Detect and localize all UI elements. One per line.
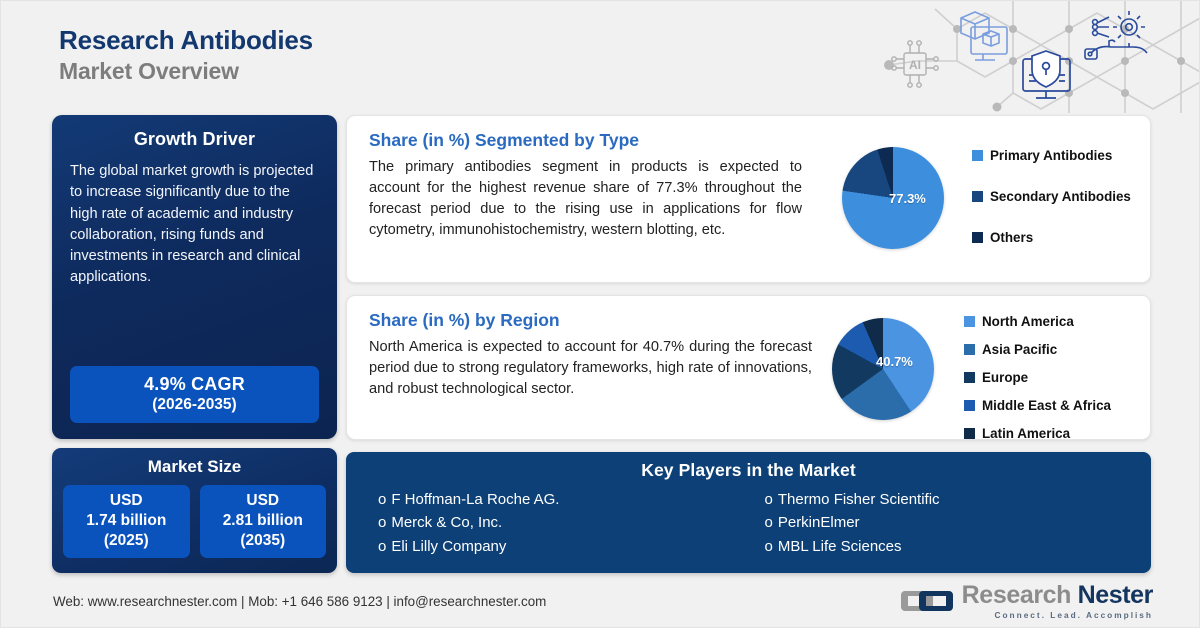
logo-text: Research Nester	[962, 583, 1153, 608]
type-pie-label: 77.3%	[889, 191, 926, 206]
svg-text:AI: AI	[909, 58, 921, 72]
market-size-values: USD 1.74 billion (2025) USD 2.81 billion…	[63, 485, 326, 558]
share-by-region-card: Share (in %) by Region North America is …	[346, 295, 1151, 440]
key-players-title: Key Players in the Market	[346, 460, 1151, 481]
player-name: PerkinElmer	[778, 514, 860, 531]
region-pie-chart: 40.7%	[832, 318, 934, 420]
legend-label: Middle East & Africa	[982, 398, 1111, 413]
cagr-period: (2026-2035)	[74, 396, 315, 414]
key-players-columns: oF Hoffman-La Roche AG. oMerck & Co, Inc…	[346, 488, 1151, 558]
bullet-icon: o	[765, 514, 773, 531]
legend-swatch-icon	[964, 344, 975, 355]
list-item: oThermo Fisher Scientific	[765, 488, 1152, 511]
logo-wordmark: Research Nester Connect. Lead. Accomplis…	[962, 583, 1153, 619]
type-legend: Primary Antibodies Secondary Antibodies …	[972, 148, 1131, 245]
logo-research-text: Research	[962, 581, 1071, 609]
legend-item-asia-pacific: Asia Pacific	[964, 342, 1111, 357]
region-pie-label: 40.7%	[876, 354, 913, 369]
player-name: MBL Life Sciences	[778, 538, 902, 555]
legend-item-others: Others	[972, 230, 1131, 245]
list-item: oPerkinElmer	[765, 511, 1152, 534]
player-name: F Hoffman-La Roche AG.	[391, 491, 559, 508]
player-name: Merck & Co, Inc.	[391, 514, 502, 531]
legend-label: Secondary Antibodies	[990, 189, 1131, 204]
footer-contact: Web: www.researchnester.com | Mob: +1 64…	[53, 594, 546, 609]
share-by-type-card: Share (in %) Segmented by Type The prima…	[346, 115, 1151, 283]
legend-item-europe: Europe	[964, 370, 1111, 385]
logo-mark-icon	[901, 584, 953, 618]
legend-swatch-icon	[972, 232, 983, 243]
research-nester-logo: Research Nester Connect. Lead. Accomplis…	[901, 583, 1153, 619]
legend-swatch-icon	[964, 372, 975, 383]
type-pie: 77.3%	[842, 147, 944, 249]
bullet-icon: o	[378, 538, 386, 555]
legend-label: North America	[982, 314, 1074, 329]
key-players-left-column: oF Hoffman-La Roche AG. oMerck & Co, Inc…	[378, 488, 765, 558]
page-title: Research Antibodies	[59, 25, 313, 56]
growth-driver-title: Growth Driver	[70, 129, 319, 150]
legend-swatch-icon	[964, 428, 975, 439]
legend-label: Others	[990, 230, 1033, 245]
cagr-value: 4.9% CAGR	[74, 374, 315, 395]
ai-chip-icon: AI	[892, 41, 938, 87]
growth-driver-card: Growth Driver The global market growth i…	[52, 115, 337, 439]
legend-swatch-icon	[964, 400, 975, 411]
robot-hand-gear-icon	[1085, 11, 1147, 59]
legend-swatch-icon	[964, 316, 975, 327]
3d-model-monitor-icon	[961, 12, 1007, 60]
key-players-card: Key Players in the Market oF Hoffman-La …	[346, 452, 1151, 573]
market-size-box-2025: USD 1.74 billion (2025)	[63, 485, 190, 558]
logo-nester-text: Nester	[1071, 581, 1153, 609]
list-item: oF Hoffman-La Roche AG.	[378, 488, 765, 511]
legend-label: Asia Pacific	[982, 342, 1057, 357]
legend-label: Latin America	[982, 426, 1070, 441]
region-pie: 40.7%	[832, 318, 934, 420]
list-item: oMerck & Co, Inc.	[378, 511, 765, 534]
player-name: Thermo Fisher Scientific	[778, 491, 940, 508]
legend-item-secondary-antibodies: Secondary Antibodies	[972, 189, 1131, 204]
legend-item-primary-antibodies: Primary Antibodies	[972, 148, 1131, 163]
share-by-region-body: North America is expected to account for…	[347, 331, 812, 400]
list-item: oMBL Life Sciences	[765, 535, 1152, 558]
bullet-icon: o	[378, 491, 386, 508]
legend-swatch-icon	[972, 150, 983, 161]
legend-item-middle-east-africa: Middle East & Africa	[964, 398, 1111, 413]
bullet-icon: o	[378, 514, 386, 531]
growth-driver-body: The global market growth is projected to…	[70, 161, 319, 289]
legend-item-north-america: North America	[964, 314, 1111, 329]
bullet-icon: o	[765, 538, 773, 555]
type-pie-chart: 77.3%	[842, 147, 944, 249]
key-players-right-column: oThermo Fisher Scientific oPerkinElmer o…	[765, 488, 1152, 558]
share-by-type-title: Share (in %) Segmented by Type	[347, 116, 1150, 151]
page-subtitle: Market Overview	[59, 58, 313, 86]
player-name: Eli Lilly Company	[391, 538, 506, 555]
cagr-badge: 4.9% CAGR (2026-2035)	[70, 366, 319, 423]
market-size-title: Market Size	[63, 457, 326, 477]
share-by-type-body: The primary antibodies segment in produc…	[347, 151, 802, 242]
header: Research Antibodies Market Overview	[59, 25, 313, 85]
shield-monitor-icon	[1023, 51, 1070, 98]
legend-label: Europe	[982, 370, 1028, 385]
region-legend: North America Asia Pacific Europe Middle…	[964, 314, 1111, 441]
market-size-box-2035: USD 2.81 billion (2035)	[200, 485, 327, 558]
list-item: oEli Lilly Company	[378, 535, 765, 558]
legend-item-latin-america: Latin America	[964, 426, 1111, 441]
market-size-card: Market Size USD 1.74 billion (2025) USD …	[52, 448, 337, 573]
legend-swatch-icon	[972, 191, 983, 202]
infographic-canvas: Research Antibodies Market Overview	[0, 0, 1200, 628]
legend-label: Primary Antibodies	[990, 148, 1112, 163]
bullet-icon: o	[765, 491, 773, 508]
logo-tagline: Connect. Lead. Accomplish	[962, 611, 1153, 619]
hexagon-decoration: AI	[847, 1, 1199, 113]
